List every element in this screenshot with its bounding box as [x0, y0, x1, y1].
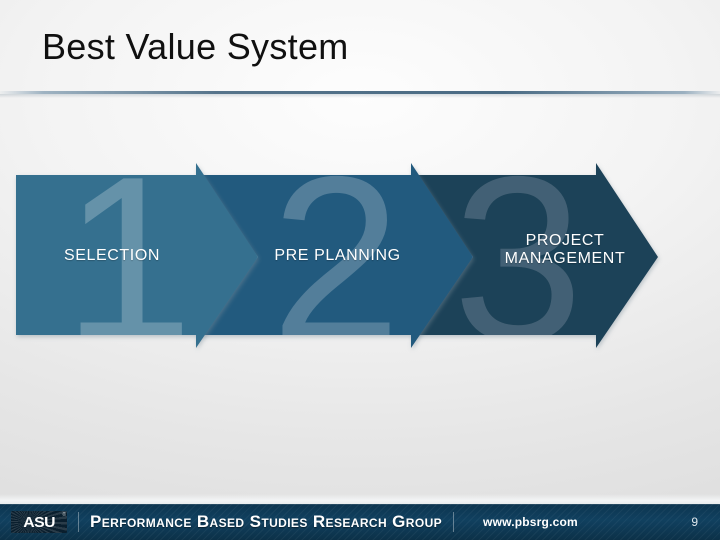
footer-glow — [0, 494, 720, 504]
trademark-symbol: ® — [62, 512, 66, 518]
organization-name: Performance Based Studies Research Group — [90, 512, 442, 532]
step-1-label: SELECTION — [22, 247, 202, 265]
footer-divider-2 — [453, 512, 454, 532]
step-2-label: PRE PLANNING — [245, 247, 430, 265]
asu-logo-text: ASU — [23, 514, 55, 531]
asu-logo: ASU ® — [11, 511, 67, 533]
website-url: www.pbsrg.com — [483, 515, 578, 529]
title-divider-shadow — [0, 94, 720, 98]
footer-bar: ASU ® Performance Based Studies Research… — [0, 504, 720, 540]
slide-number: 9 — [691, 515, 698, 529]
footer-divider-1 — [78, 512, 79, 532]
step-3-label: PROJECT MANAGEMENT — [470, 232, 660, 269]
page-title: Best Value System — [42, 26, 349, 68]
process-diagram: 3 2 1 SELECTION PRE PLANNING PROJECT MAN… — [0, 150, 720, 365]
slide: Best Value System — [0, 0, 720, 540]
